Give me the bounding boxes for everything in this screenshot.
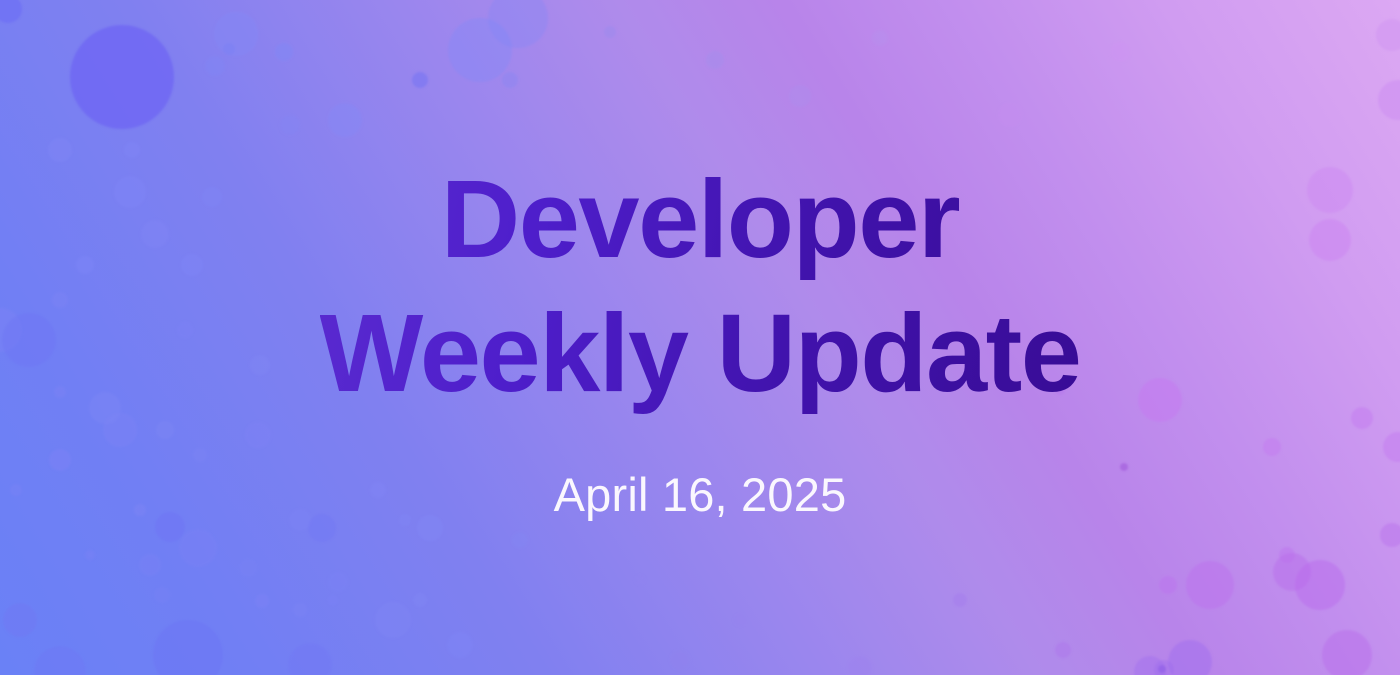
banner-content: Developer Weekly Update April 16, 2025	[0, 0, 1400, 675]
newsletter-hero-banner: Developer Weekly Update April 16, 2025	[0, 0, 1400, 675]
issue-date: April 16, 2025	[554, 421, 847, 522]
headline-line-2: Weekly Update	[320, 287, 1081, 421]
page-title: Developer Weekly Update	[320, 153, 1081, 421]
headline-line-1: Developer	[320, 153, 1081, 287]
